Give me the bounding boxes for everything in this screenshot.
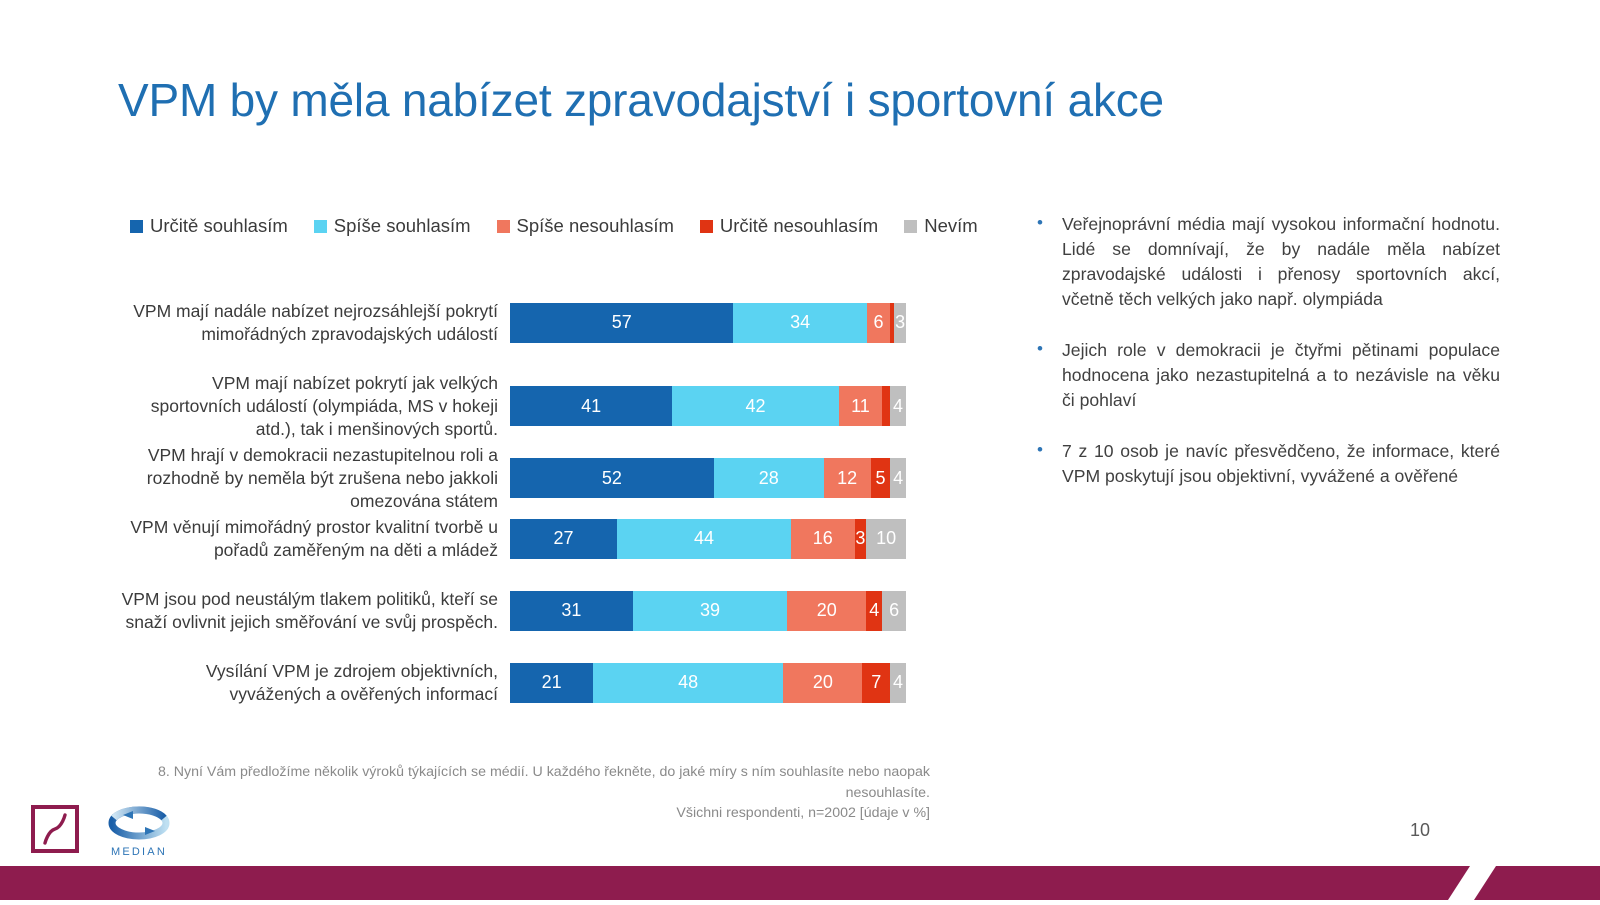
legend-label: Spíše nesouhlasím (517, 215, 674, 237)
legend-label: Nevím (924, 215, 977, 237)
chart-row: VPM mají nabízet pokrytí jak velkých spo… (118, 372, 918, 440)
bar-segment: 44 (617, 519, 791, 559)
bar-segment: 5 (871, 458, 891, 498)
footnote-question: 8. Nyní Vám předložíme několik výroků tý… (158, 764, 930, 801)
insight-bullet: 7 z 10 osob je navíc přesvědčeno, že inf… (1030, 439, 1500, 489)
legend-item-2[interactable]: Spíše nesouhlasím (497, 215, 674, 237)
bar-segment: 3 (894, 303, 906, 343)
chart-row-label: VPM mají nabízet pokrytí jak velkých spo… (118, 372, 510, 440)
bar-segment: 27 (510, 519, 617, 559)
page-number: 10 (1410, 820, 1470, 841)
bar-segment: 31 (510, 591, 633, 631)
chart-row: Vysílání VPM je zdrojem objektivních, vy… (118, 660, 918, 706)
stacked-bar[interactable]: 4142114 (510, 386, 906, 426)
chart-row-label: VPM hrají v demokracii nezastupitelnou r… (118, 444, 510, 512)
bar-segment: 7 (862, 663, 890, 703)
stacked-bar[interactable]: 274416310 (510, 519, 906, 559)
legend-label: Určitě nesouhlasím (720, 215, 878, 237)
bar-segment: 42 (672, 386, 838, 426)
bar-segment: 20 (783, 663, 862, 703)
bar-segment: 10 (866, 519, 906, 559)
chart-row-label: Vysílání VPM je zdrojem objektivních, vy… (118, 660, 510, 706)
chart-row: VPM jsou pod neustálým tlakem politiků, … (118, 588, 918, 634)
stacked-bar-chart: VPM mají nadále nabízet nejrozsáhlejší p… (118, 290, 918, 730)
bar-segment: 6 (882, 591, 906, 631)
chart-row: VPM věnují mimořádný prostor kvalitní tv… (118, 516, 918, 562)
legend-item-4[interactable]: Nevím (904, 215, 977, 237)
chart-legend: Určitě souhlasímSpíše souhlasímSpíše nes… (130, 215, 930, 237)
legend-item-0[interactable]: Určitě souhlasím (130, 215, 288, 237)
chart-row-label: VPM mají nadále nabízet nejrozsáhlejší p… (118, 300, 510, 346)
bar-segment: 39 (633, 591, 787, 631)
bar-segment: 6 (867, 303, 891, 343)
bar-segment: 48 (593, 663, 783, 703)
median-logo-text: MEDIAN (107, 846, 171, 858)
bottom-accent-bar (0, 866, 1600, 900)
insights-list: Veřejnoprávní média mají vysokou informa… (1030, 212, 1500, 515)
bar-segment: 16 (791, 519, 854, 559)
bar-segment: 12 (824, 458, 871, 498)
insight-bullet: Jejich role v demokracii je čtyřmi pětin… (1030, 338, 1500, 413)
chart-row-label: VPM věnují mimořádný prostor kvalitní tv… (118, 516, 510, 562)
legend-swatch-icon (904, 220, 917, 233)
legend-swatch-icon (497, 220, 510, 233)
bar-segment: 20 (787, 591, 866, 631)
legend-label: Určitě souhlasím (150, 215, 288, 237)
bar-segment: 57 (510, 303, 733, 343)
bar-segment: 3 (855, 519, 867, 559)
insight-bullet: Veřejnoprávní média mají vysokou informa… (1030, 212, 1500, 312)
page-title: VPM by měla nabízet zpravodajství i spor… (118, 75, 1418, 127)
footnote: 8. Nyní Vám předložíme několik výroků tý… (110, 762, 930, 824)
stacked-bar[interactable]: 21482074 (510, 663, 906, 703)
bar-segment: 34 (733, 303, 866, 343)
bar-segment (882, 386, 890, 426)
stacked-bar[interactable]: 52281254 (510, 458, 906, 498)
bar-segment: 52 (510, 458, 714, 498)
bar-segment: 11 (839, 386, 883, 426)
bar-segment: 4 (890, 663, 906, 703)
bar-segment: 41 (510, 386, 672, 426)
bar-segment: 4 (890, 386, 906, 426)
chart-row: VPM hrají v demokracii nezastupitelnou r… (118, 444, 918, 512)
median-square-logo (31, 805, 79, 853)
bar-segment: 28 (714, 458, 824, 498)
legend-swatch-icon (314, 220, 327, 233)
legend-swatch-icon (130, 220, 143, 233)
bar-segment: 4 (890, 458, 906, 498)
bar-segment: 21 (510, 663, 593, 703)
legend-item-3[interactable]: Určitě nesouhlasím (700, 215, 878, 237)
chart-row: VPM mají nadále nabízet nejrozsáhlejší p… (118, 300, 918, 346)
stacked-bar[interactable]: 31392046 (510, 591, 906, 631)
legend-swatch-icon (700, 220, 713, 233)
median-logo: MEDIAN (107, 806, 171, 854)
legend-label: Spíše souhlasím (334, 215, 471, 237)
footnote-sample: Všichni respondenti, n=2002 [údaje v %] (110, 803, 930, 824)
bar-segment: 4 (866, 591, 882, 631)
stacked-bar[interactable]: 573463 (510, 303, 906, 343)
chart-row-label: VPM jsou pod neustálým tlakem politiků, … (118, 588, 510, 634)
legend-item-1[interactable]: Spíše souhlasím (314, 215, 471, 237)
